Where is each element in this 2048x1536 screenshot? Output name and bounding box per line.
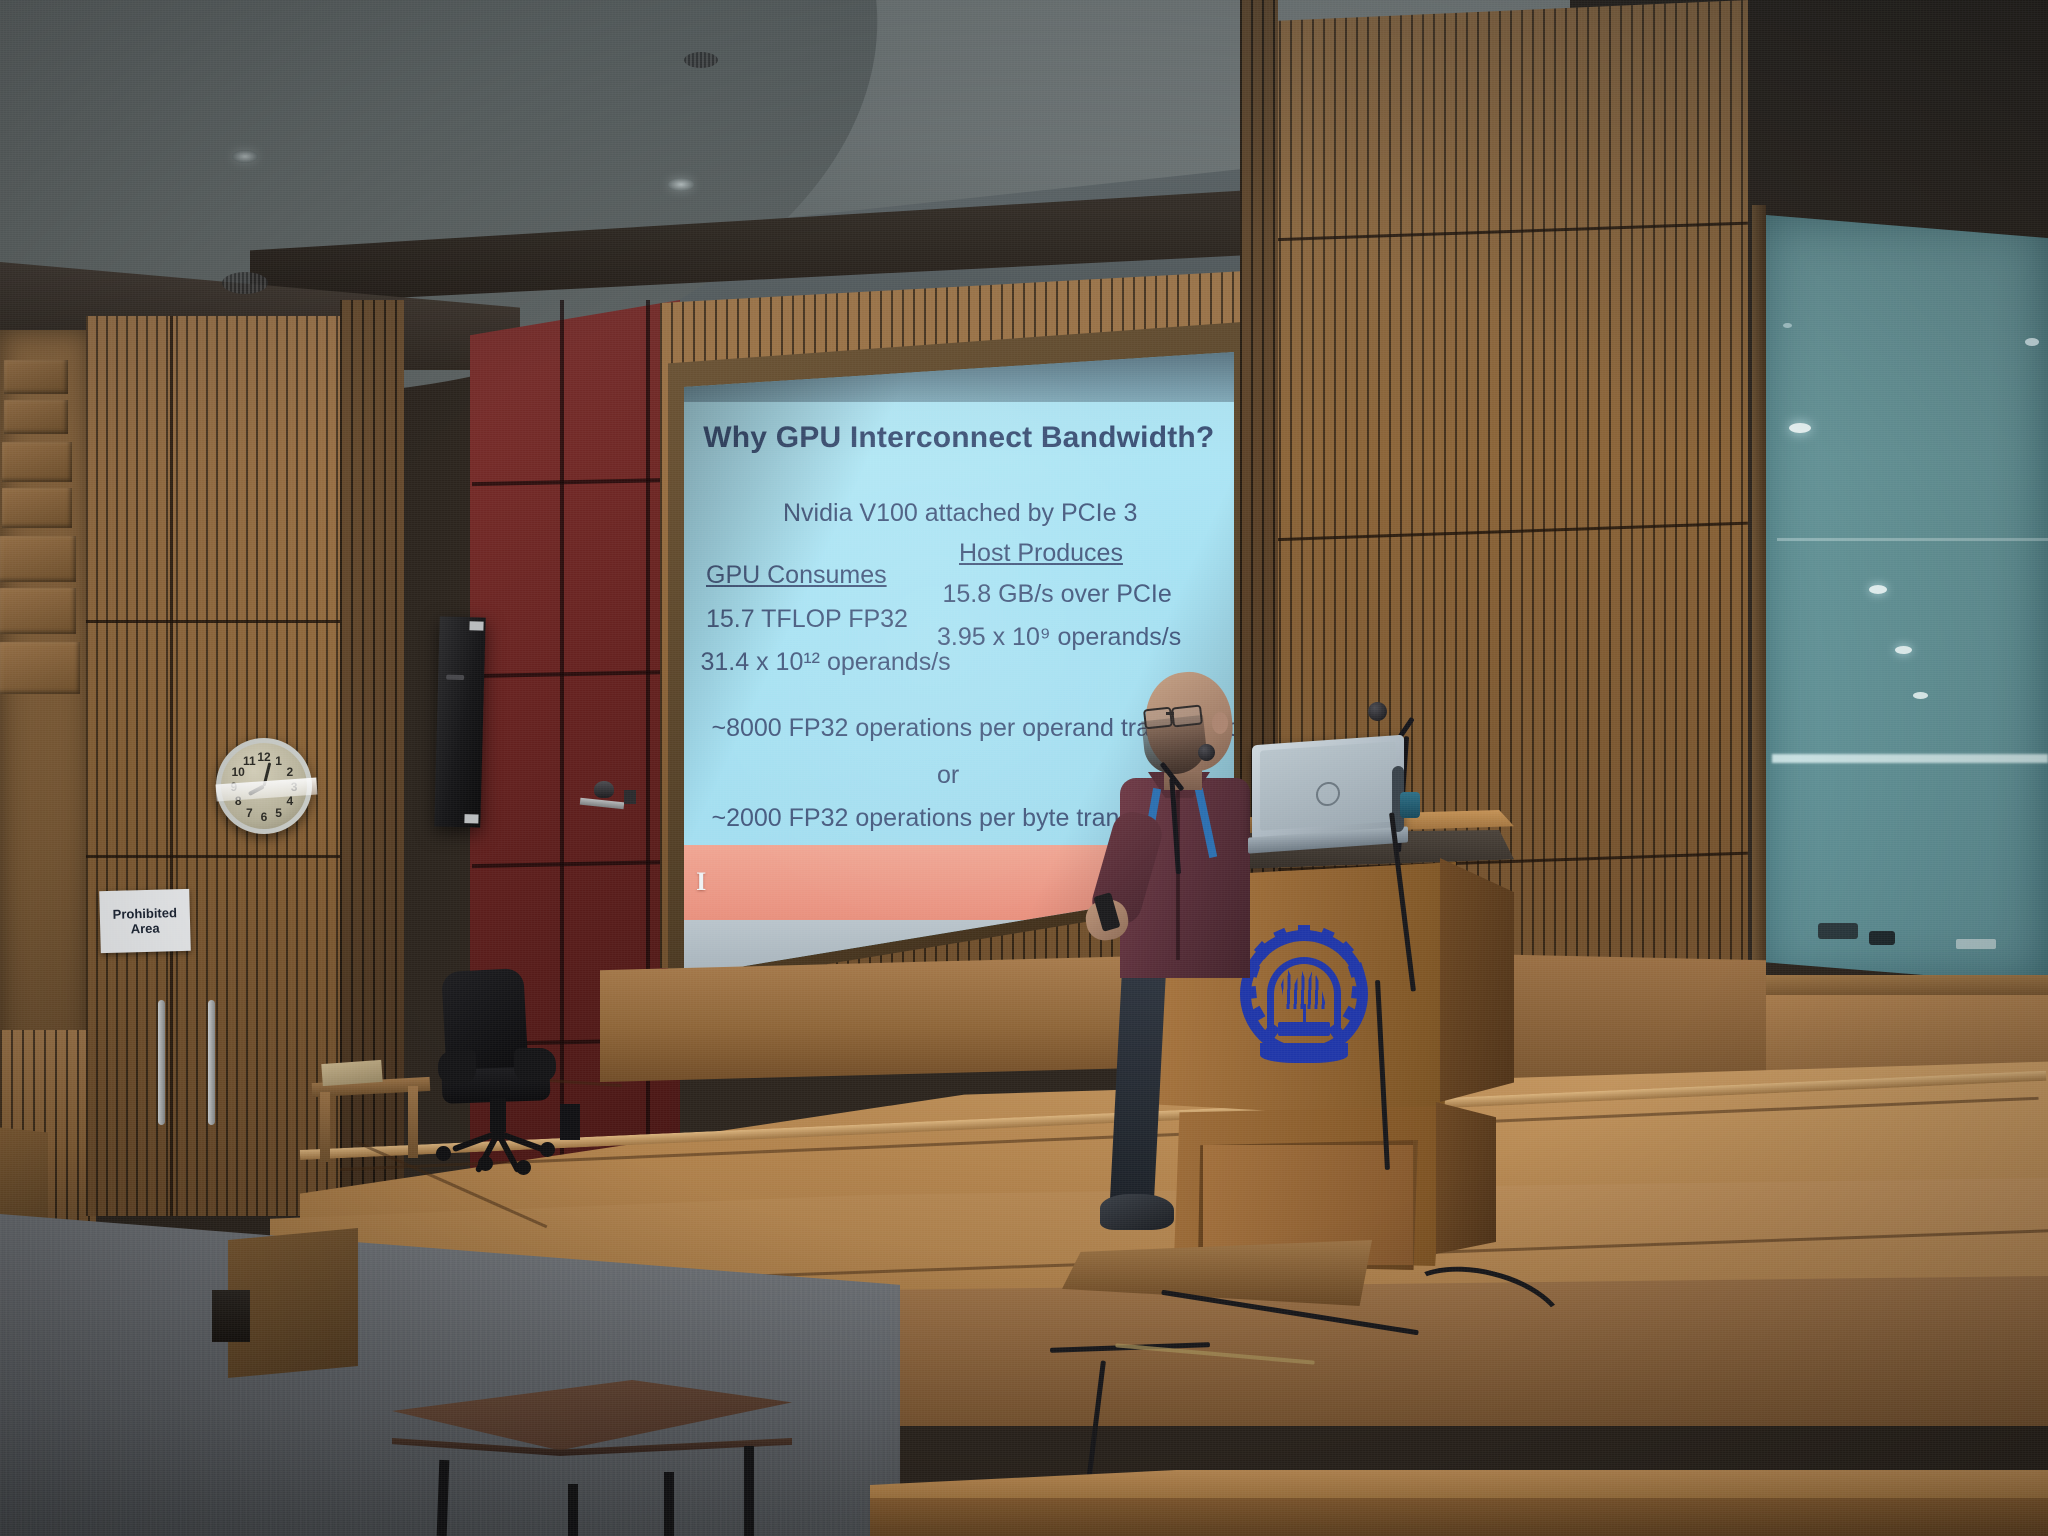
- prohibited-area-sign: Prohibited Area: [99, 889, 191, 953]
- wall-seam: [86, 620, 346, 623]
- side-table: [392, 1380, 792, 1536]
- host-produces-heading: Host Produces: [959, 539, 1123, 568]
- clock-numeral: 1: [275, 754, 282, 768]
- laptop-connector: [1400, 792, 1420, 818]
- lecture-hall-photo: 12 1 2 3 4 5 6 7 8 9 10 11 Prohibited Ar…: [0, 0, 2048, 1536]
- office-chair: [432, 970, 572, 1170]
- microphone-left: [1148, 744, 1218, 874]
- floor-object: [560, 1104, 580, 1140]
- sign-line-2: Area: [131, 921, 160, 937]
- eyeglasses-icon: [1171, 704, 1203, 727]
- illinois-logo-subtext: [708, 887, 711, 897]
- host-produces-line-1: 15.8 GB/s over PCIe: [943, 580, 1172, 609]
- gpu-consumes-line-1: 15.7 TFLOP FP32: [706, 605, 908, 634]
- dark-recess: [212, 1290, 250, 1342]
- ceiling-downlight-icon: [232, 150, 258, 163]
- host-produces-line-2: 3.95 x 10⁹ operands/s: [937, 623, 1181, 652]
- book-on-table: [321, 1060, 382, 1086]
- wall-mounted-camera: [580, 778, 640, 812]
- slide-title: Why GPU Interconnect Bandwidth?: [703, 421, 1214, 455]
- wall-seam: [170, 316, 173, 1216]
- clock-numeral: 2: [286, 765, 293, 779]
- clock-numeral: 5: [275, 806, 282, 820]
- clock-numeral: 7: [246, 806, 253, 820]
- window-frame-left: [1752, 205, 1766, 995]
- slide-subtitle: Nvidia V100 attached by PCIe 3: [783, 499, 1137, 528]
- side-table-leg: [320, 1092, 330, 1162]
- laptop[interactable]: [1252, 740, 1412, 865]
- side-table-leg: [408, 1086, 418, 1158]
- gpu-consumes-heading: GPU Consumes: [706, 561, 887, 590]
- eyeglasses-icon: [1143, 707, 1173, 730]
- clock-numeral: 11: [243, 754, 256, 768]
- sign-line-1: Prohibited: [112, 905, 177, 922]
- window-glass: [1760, 215, 2048, 985]
- door-handle[interactable]: [208, 1000, 215, 1125]
- ceiling-downlight-icon: [668, 178, 694, 191]
- wall-clock: 12 1 2 3 4 5 6 7 8 9 10 11: [216, 738, 312, 834]
- illinois-block-i-icon: I: [696, 867, 705, 897]
- door-handle[interactable]: [158, 1000, 165, 1125]
- pa-column-speaker: [434, 616, 485, 827]
- conclusion-line-2: or: [937, 761, 959, 790]
- ceiling-vent-icon: [684, 52, 718, 68]
- bench-face: [870, 1498, 2048, 1536]
- clock-numeral: 6: [261, 810, 268, 824]
- ceiling-vent-icon: [222, 272, 268, 294]
- gpu-consumes-line-2: 31.4 x 10¹² operands/s: [701, 648, 951, 677]
- wall-seam: [86, 855, 346, 858]
